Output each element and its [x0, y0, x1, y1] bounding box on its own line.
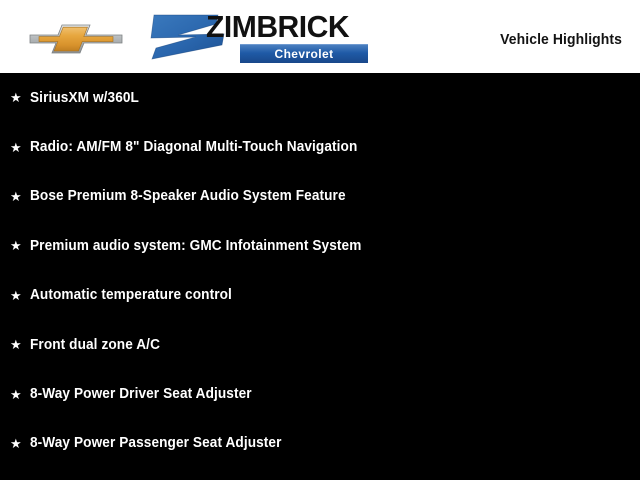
list-item: ★8-Way Power Driver Seat Adjuster	[0, 369, 640, 418]
zimbrick-wordmark: ZIMBRICK	[206, 10, 349, 44]
star-bullet-icon: ★	[10, 388, 30, 401]
star-bullet-icon: ★	[10, 190, 30, 203]
highlight-label: Automatic temperature control	[30, 287, 232, 303]
vehicle-highlights-page: ZIMBRICK Chevrolet Vehicle Highlights ★S…	[0, 0, 640, 480]
star-bullet-icon: ★	[10, 91, 30, 104]
list-item: ★8-Way Power Passenger Seat Adjuster	[0, 419, 640, 468]
list-item: ★Radio: AM/FM 8" Diagonal Multi-Touch Na…	[0, 122, 640, 171]
star-bullet-icon: ★	[10, 338, 30, 351]
list-item: ★Premium audio system: GMC Infotainment …	[0, 221, 640, 270]
chevrolet-bowtie-icon	[28, 17, 124, 59]
list-item: ★SiriusXM w/360L	[0, 73, 640, 122]
highlight-label: SiriusXM w/360L	[30, 90, 139, 106]
highlight-label: Premium audio system: GMC Infotainment S…	[30, 238, 361, 254]
star-bullet-icon: ★	[10, 239, 30, 252]
highlight-label: Front dual zone A/C	[30, 337, 160, 353]
highlight-label: 8-Way Power Passenger Seat Adjuster	[30, 435, 282, 451]
page-header: ZIMBRICK Chevrolet Vehicle Highlights	[0, 0, 640, 73]
zimbrick-dealer-logo: ZIMBRICK Chevrolet	[148, 8, 380, 66]
highlight-label: Radio: AM/FM 8" Diagonal Multi-Touch Nav…	[30, 139, 357, 155]
chevrolet-subtitle-label: Chevrolet	[240, 45, 368, 64]
list-item: ★Front dual zone A/C	[0, 320, 640, 369]
highlight-label: 8-Way Power Driver Seat Adjuster	[30, 386, 252, 402]
page-title: Vehicle Highlights	[500, 31, 622, 48]
highlight-label: Bose Premium 8-Speaker Audio System Feat…	[30, 188, 346, 204]
chevrolet-subtitle-bar: Chevrolet	[240, 44, 368, 63]
star-bullet-icon: ★	[10, 437, 30, 450]
star-bullet-icon: ★	[10, 141, 30, 154]
list-item: ★Bose Premium 8-Speaker Audio System Fea…	[0, 172, 640, 221]
vehicle-highlights-list: ★SiriusXM w/360L★Radio: AM/FM 8" Diagona…	[0, 73, 640, 480]
list-item: ★Automatic temperature control	[0, 271, 640, 320]
star-bullet-icon: ★	[10, 289, 30, 302]
